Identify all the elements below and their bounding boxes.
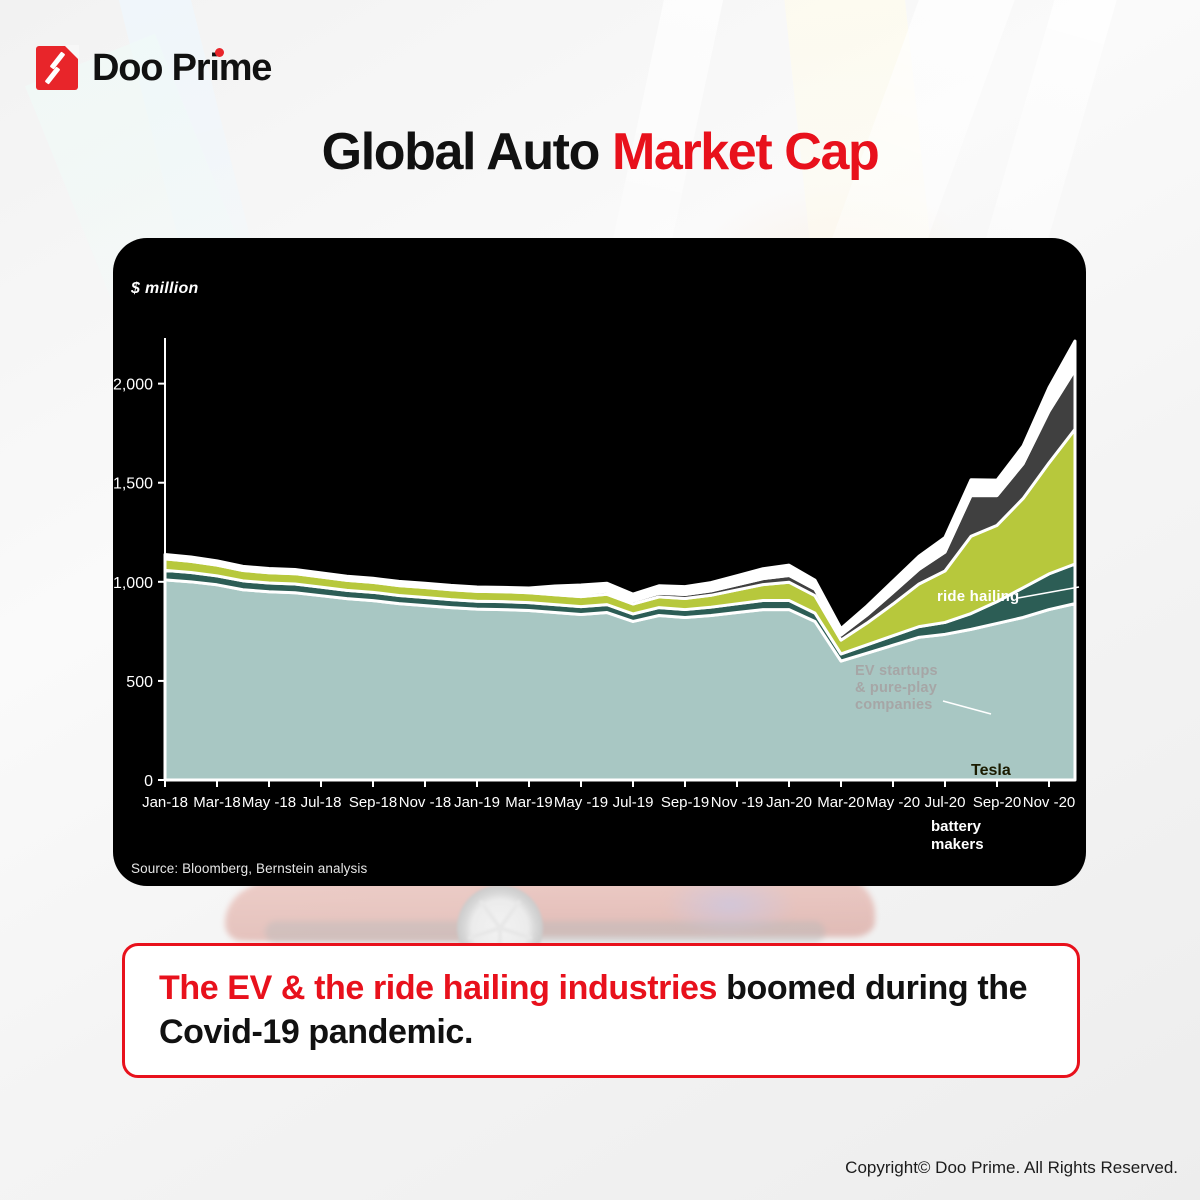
page-title-accent: Market Cap [612,123,878,181]
copyright-notice: Copyright© Doo Prime. All Rights Reserve… [845,1158,1178,1178]
svg-text:May -20: May -20 [866,794,920,811]
brand-logo: Doo Prime [36,46,271,90]
svg-text:Nov -20: Nov -20 [1023,794,1076,811]
chart-source-note: Source: Bloomberg, Bernstein analysis [131,861,367,876]
page-title-primary: Global Auto [322,123,612,181]
annotation-ev-startups: EV startups & pure-play companies [855,663,938,714]
logo-dot-icon [215,48,224,57]
svg-text:Sep-20: Sep-20 [973,794,1021,811]
svg-text:Mar-20: Mar-20 [817,794,865,811]
svg-text:May -19: May -19 [554,794,608,811]
annotation-ride-hailing: ride hailing [937,588,1019,606]
svg-text:Jan-18: Jan-18 [142,794,188,811]
svg-text:Jul-19: Jul-19 [613,794,654,811]
stacked-area-chart: 05001,0001,5002,000Jan-18Mar-18May -18Ju… [113,238,1086,886]
svg-text:2,000: 2,000 [113,377,153,394]
svg-text:Nov -18: Nov -18 [399,794,452,811]
svg-text:Sep-19: Sep-19 [661,794,709,811]
caption-box: The EV & the ride hailing industries boo… [122,943,1080,1078]
annotation-battery-makers: battery makers [931,818,984,853]
svg-text:Mar-18: Mar-18 [193,794,241,811]
chart-card: $ million 05001,0001,5002,000Jan-18Mar-1… [113,238,1086,886]
annotation-tesla: Tesla [971,762,1011,781]
svg-text:Jul-18: Jul-18 [301,794,342,811]
caption-text: The EV & the ride hailing industries boo… [159,967,1043,1054]
svg-text:Jan-20: Jan-20 [766,794,812,811]
svg-text:Sep-18: Sep-18 [349,794,397,811]
svg-text:1,500: 1,500 [113,476,153,493]
svg-text:Nov -19: Nov -19 [711,794,764,811]
svg-text:Jul-20: Jul-20 [925,794,966,811]
svg-text:May -18: May -18 [242,794,296,811]
page-title: Global Auto Market Cap [0,122,1200,182]
doo-prime-mark-icon [36,46,78,90]
brand-logo-text: Doo Prime [92,47,271,90]
caption-accent: The EV & the ride hailing industries [159,969,717,1007]
svg-text:0: 0 [144,773,153,790]
svg-text:Jan-19: Jan-19 [454,794,500,811]
svg-text:Mar-19: Mar-19 [505,794,553,811]
svg-text:500: 500 [126,674,153,691]
svg-text:1,000: 1,000 [113,575,153,592]
